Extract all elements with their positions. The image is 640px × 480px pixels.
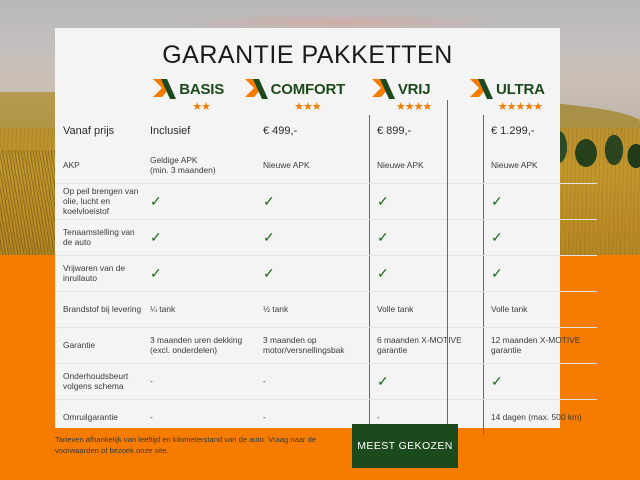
- row-label: AKP: [55, 147, 143, 183]
- row-label: Tenaamstelling van de auto: [55, 219, 143, 255]
- disclaimer-text: Tarieven afhankelijk van leeftijd en kil…: [55, 434, 345, 456]
- package-name-comfort: COMFORT: [271, 81, 345, 98]
- x-logo-icon: [244, 77, 270, 101]
- row-label: Brandstof bij levering: [55, 291, 143, 327]
- row-cell-basis: Inclusief: [143, 115, 256, 147]
- row-cell-basis: ✓: [143, 219, 256, 255]
- table-row: AKP Geldige APK(min. 3 maanden) Nieuwe A…: [55, 147, 597, 183]
- card-footer: Tarieven afhankelijk van leeftijd en kil…: [55, 430, 560, 480]
- comparison-table-body: Vanaf prijs Inclusief € 499,- € 899,- € …: [55, 115, 597, 435]
- row-cell-vrij: ✓: [370, 363, 484, 399]
- row-cell-vrij: ✓: [370, 255, 484, 291]
- package-header-vrij[interactable]: VRIJ ★★★★: [348, 77, 454, 112]
- pricing-card: GARANTIE PAKKETTEN BASIS ★★: [55, 28, 560, 428]
- meest-gekozen-button[interactable]: MEEST GEKOZEN: [352, 424, 458, 468]
- table-row: Vanaf prijs Inclusief € 499,- € 899,- € …: [55, 115, 597, 147]
- row-cell-ultra: ✓: [484, 363, 598, 399]
- row-cell-comfort: € 499,-: [256, 115, 370, 147]
- row-cell-comfort: ✓: [256, 219, 370, 255]
- row-cell-ultra: ✓: [484, 183, 598, 219]
- package-stars-ultra: ★★★★★: [498, 102, 542, 112]
- row-cell-comfort: Nieuwe APK: [256, 147, 370, 183]
- package-header-ultra[interactable]: ULTRA ★★★★★: [454, 77, 560, 112]
- row-cell-basis: ✓: [143, 255, 256, 291]
- row-label: Onderhoudsbeurt volgens schema: [55, 363, 143, 399]
- row-cell-basis: ✓: [143, 183, 256, 219]
- package-header-comfort[interactable]: COMFORT ★★★: [241, 77, 347, 112]
- package-stars-comfort: ★★★: [294, 102, 321, 112]
- row-cell-vrij: 6 maanden X-MOTIVEgarantie: [370, 327, 484, 363]
- row-cell-basis: -: [143, 363, 256, 399]
- row-cell-ultra: ✓: [484, 219, 598, 255]
- comparison-table: Vanaf prijs Inclusief € 499,- € 899,- € …: [55, 115, 597, 435]
- row-cell-ultra: Nieuwe APK: [484, 147, 598, 183]
- x-motive-logo: ULTRA: [469, 77, 545, 101]
- highlighted-column-border: [447, 100, 448, 428]
- package-header-row: BASIS ★★ COMFORT ★★★: [55, 70, 560, 115]
- table-row: Op peil brengen van olie, lucht en koelv…: [55, 183, 597, 219]
- row-cell-ultra: 12 maanden X-MOTIVEgarantie: [484, 327, 598, 363]
- row-cell-basis: 3 maanden uren dekking(excl. onderdelen): [143, 327, 256, 363]
- table-row: Vrijwaren van de inruilauto ✓ ✓ ✓ ✓: [55, 255, 597, 291]
- row-cell-vrij: Volle tank: [370, 291, 484, 327]
- x-motive-logo: BASIS: [152, 77, 224, 101]
- package-stars-basis: ★★: [192, 102, 210, 112]
- row-cell-comfort: ✓: [256, 183, 370, 219]
- row-cell-ultra: ✓: [484, 255, 598, 291]
- row-cell-vrij: € 899,-: [370, 115, 484, 147]
- row-cell-vrij: Nieuwe APK: [370, 147, 484, 183]
- row-cell-basis: ¼ tank: [143, 291, 256, 327]
- row-label: Vrijwaren van de inruilauto: [55, 255, 143, 291]
- package-header-basis[interactable]: BASIS ★★: [135, 77, 241, 112]
- header-spacer: [55, 77, 135, 112]
- x-logo-icon: [469, 77, 495, 101]
- x-motive-logo: COMFORT: [244, 77, 345, 101]
- row-cell-comfort: ½ tank: [256, 291, 370, 327]
- row-label: Garantie: [55, 327, 143, 363]
- row-cell-vrij: ✓: [370, 183, 484, 219]
- row-cell-vrij: ✓: [370, 219, 484, 255]
- table-row: Onderhoudsbeurt volgens schema - - ✓ ✓: [55, 363, 597, 399]
- package-name-basis: BASIS: [179, 81, 224, 98]
- row-cell-comfort: 3 maanden opmotor/versnellingsbak: [256, 327, 370, 363]
- table-row: Garantie 3 maanden uren dekking(excl. on…: [55, 327, 597, 363]
- row-cell-basis: Geldige APK(min. 3 maanden): [143, 147, 256, 183]
- row-cell-ultra: € 1.299,-: [484, 115, 598, 147]
- page-title: GARANTIE PAKKETTEN: [55, 28, 560, 70]
- row-cell-comfort: ✓: [256, 255, 370, 291]
- package-name-vrij: VRIJ: [398, 81, 431, 98]
- row-cell-comfort: -: [256, 363, 370, 399]
- package-name-ultra: ULTRA: [496, 81, 545, 98]
- row-label: Op peil brengen van olie, lucht en koelv…: [55, 183, 143, 219]
- table-row: Tenaamstelling van de auto ✓ ✓ ✓ ✓: [55, 219, 597, 255]
- x-logo-icon: [371, 77, 397, 101]
- row-label: Vanaf prijs: [55, 115, 143, 147]
- table-row: Brandstof bij levering ¼ tank ½ tank Vol…: [55, 291, 597, 327]
- row-cell-ultra: Volle tank: [484, 291, 598, 327]
- x-logo-icon: [152, 77, 178, 101]
- x-motive-logo: VRIJ: [371, 77, 431, 101]
- package-stars-vrij: ★★★★: [396, 102, 431, 112]
